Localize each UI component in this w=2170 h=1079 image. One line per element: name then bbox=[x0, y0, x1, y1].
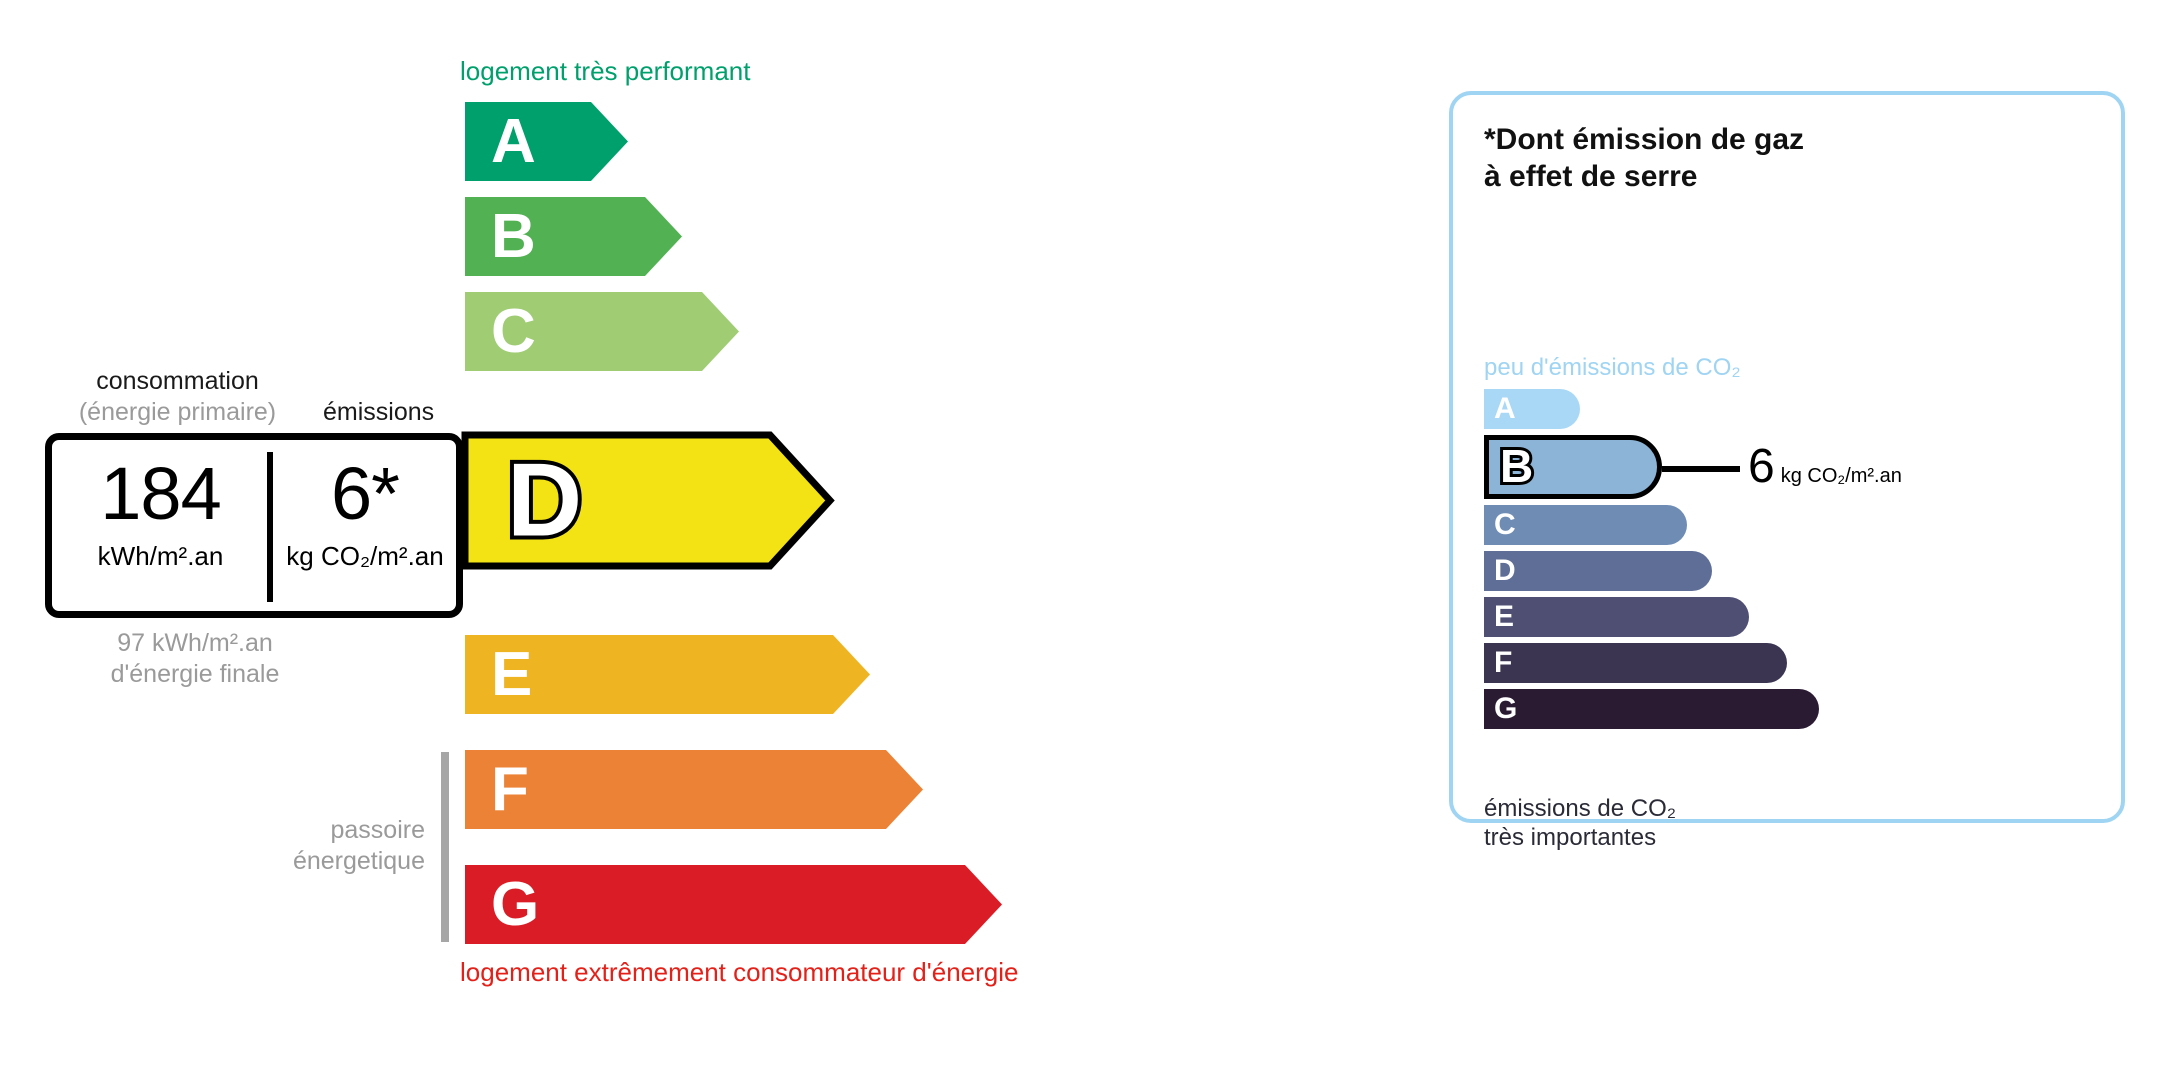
co2-bar-letter: B bbox=[1500, 435, 1533, 499]
passoire-label: passoire énergetique bbox=[240, 815, 425, 877]
band-letter: C bbox=[491, 297, 536, 366]
band-letter: A bbox=[491, 107, 536, 176]
co2-bar-row-e: E bbox=[1484, 597, 2104, 637]
consumption-value-cell: 184 kWh/m².an bbox=[58, 458, 263, 572]
co2-bottom-caption: émissions de CO₂ très importantes bbox=[1484, 795, 1676, 853]
co2-bar-row-d: D bbox=[1484, 551, 2104, 591]
final-energy-value: 97 kWh/m².an bbox=[45, 628, 345, 659]
passoire-bracket bbox=[441, 752, 449, 942]
band-shape bbox=[465, 102, 628, 181]
scale-bottom-caption: logement extrêmement consommateur d'éner… bbox=[460, 957, 1018, 988]
co2-bar-letter: A bbox=[1494, 389, 1516, 429]
co2-bar-row-c: C bbox=[1484, 505, 2104, 545]
energy-band-e: E bbox=[460, 630, 875, 719]
emissions-value: 6* bbox=[276, 458, 454, 529]
co2-bar bbox=[1484, 551, 1712, 591]
co2-bar-row-b: B6kg CO₂/m².an bbox=[1484, 435, 2104, 499]
co2-panel-title: *Dont émission de gaz à effet de serre bbox=[1484, 122, 1804, 195]
band-letter: D bbox=[507, 443, 582, 559]
energy-band-b: B bbox=[460, 192, 687, 281]
value-box-divider bbox=[267, 452, 273, 602]
co2-bar-list: AB6kg CO₂/m².anCDEFG bbox=[1484, 389, 2104, 735]
energy-band-c: C bbox=[460, 287, 744, 376]
co2-bar-row-a: A bbox=[1484, 389, 2104, 429]
emissions-value-cell: 6* kg CO₂/m².an bbox=[276, 458, 454, 572]
band-shape bbox=[465, 865, 1002, 944]
dpe-label: logement très performant ABCDEFG consomm… bbox=[0, 0, 2170, 1079]
co2-panel: *Dont émission de gaz à effet de serre p… bbox=[1449, 91, 2125, 823]
co2-bar bbox=[1484, 643, 1787, 683]
passoire-label-line2: énergetique bbox=[240, 846, 425, 877]
final-energy-label: d'énergie finale bbox=[45, 659, 345, 690]
emissions-header: émissions bbox=[323, 398, 434, 427]
consumption-value: 184 bbox=[58, 458, 263, 529]
co2-title-line2: à effet de serre bbox=[1484, 159, 1804, 196]
consumption-header-main: consommation bbox=[60, 366, 295, 397]
co2-bar-letter: G bbox=[1494, 689, 1517, 729]
co2-bar bbox=[1484, 597, 1749, 637]
co2-leader-line bbox=[1662, 466, 1740, 472]
co2-bar-letter: C bbox=[1494, 505, 1516, 545]
consumption-unit: kWh/m².an bbox=[58, 541, 263, 572]
band-shape bbox=[465, 750, 923, 829]
co2-bottom-caption-line1: émissions de CO₂ bbox=[1484, 795, 1676, 824]
scale-top-caption: logement très performant bbox=[460, 56, 750, 87]
passoire-label-line1: passoire bbox=[240, 815, 425, 846]
band-letter: B bbox=[491, 202, 536, 271]
value-box: 184 kWh/m².an 6* kg CO₂/m².an bbox=[45, 433, 463, 618]
co2-bar-letter: D bbox=[1494, 551, 1516, 591]
co2-top-caption: peu d'émissions de CO₂ bbox=[1484, 354, 1741, 382]
co2-value-group: 6kg CO₂/m².an bbox=[1748, 435, 1902, 499]
band-letter: F bbox=[491, 755, 529, 824]
final-energy-note: 97 kWh/m².an d'énergie finale bbox=[45, 628, 345, 690]
value-box-headers: consommation (énergie primaire) émission… bbox=[40, 366, 460, 432]
energy-band-g: G bbox=[460, 860, 1007, 949]
energy-band-a: A bbox=[460, 97, 633, 186]
co2-title-line1: *Dont émission de gaz bbox=[1484, 122, 1804, 159]
energy-band-f: F bbox=[460, 745, 928, 834]
co2-bar bbox=[1484, 689, 1819, 729]
consumption-header-sub: (énergie primaire) bbox=[60, 397, 295, 428]
energy-band-d: D bbox=[460, 430, 835, 571]
co2-bar-letter: F bbox=[1494, 643, 1512, 683]
co2-value: 6 bbox=[1748, 440, 1775, 493]
co2-unit: kg CO₂/m².an bbox=[1781, 465, 1902, 487]
co2-bottom-caption-line2: très importantes bbox=[1484, 824, 1676, 853]
consumption-header: consommation (énergie primaire) bbox=[60, 366, 295, 427]
band-letter: G bbox=[491, 870, 539, 939]
co2-bar-row-g: G bbox=[1484, 689, 2104, 729]
band-letter: E bbox=[491, 640, 532, 709]
co2-bar-letter: E bbox=[1494, 597, 1514, 637]
co2-bar-row-f: F bbox=[1484, 643, 2104, 683]
emissions-unit: kg CO₂/m².an bbox=[276, 541, 454, 572]
